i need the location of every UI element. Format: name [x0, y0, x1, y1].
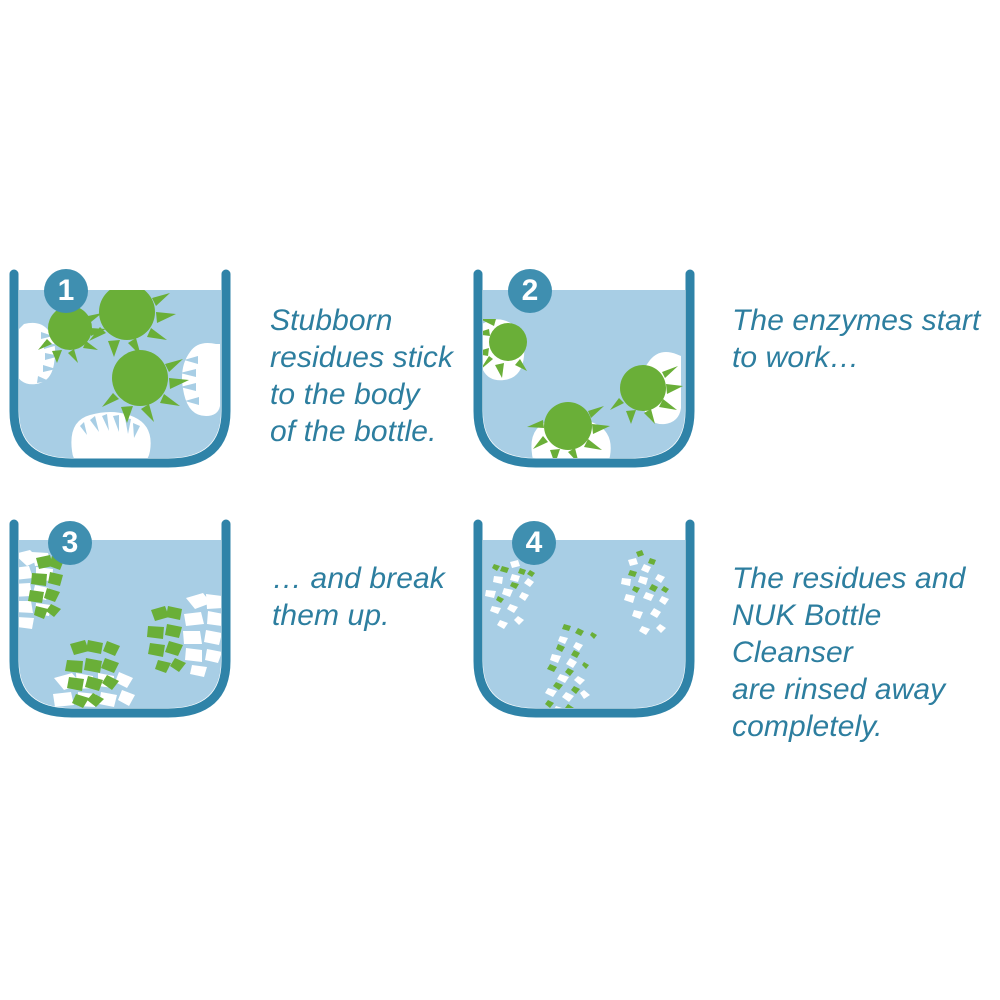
step-badge-number: 1	[58, 276, 75, 306]
bottle-illustration-2: 2	[464, 266, 704, 476]
step-panel-3: 3	[0, 516, 445, 726]
step-panel-1: 1	[0, 266, 453, 476]
step-caption-4: The residues and NUK Bottle Cleanser are…	[732, 560, 1000, 745]
residue-blob	[71, 412, 150, 465]
bottle-svg-2	[464, 266, 704, 476]
step-badge-2: 2	[508, 269, 552, 313]
step-badge-3: 3	[48, 521, 92, 565]
step-caption-3: … and break them up.	[272, 560, 445, 634]
bottle-svg-1	[0, 266, 240, 476]
step-badge-1: 1	[44, 269, 88, 313]
bottle-illustration-4: 4	[464, 516, 704, 726]
infographic-canvas: 1	[0, 0, 1000, 1000]
bottle-illustration-1: 1	[0, 266, 240, 476]
bottle-svg-4	[464, 516, 704, 726]
step-panel-4: 4	[464, 516, 1000, 745]
step-panel-2: 2	[464, 266, 980, 476]
step-caption-2: The enzymes start to work…	[732, 302, 980, 376]
bottle-illustration-3: 3	[0, 516, 240, 726]
step-badge-number: 3	[62, 528, 79, 558]
step-badge-number: 4	[526, 528, 543, 558]
bottle-svg-3	[0, 516, 240, 726]
step-caption-1: Stubborn residues stick to the body of t…	[270, 302, 453, 450]
step-badge-number: 2	[522, 276, 539, 306]
step-badge-4: 4	[512, 521, 556, 565]
